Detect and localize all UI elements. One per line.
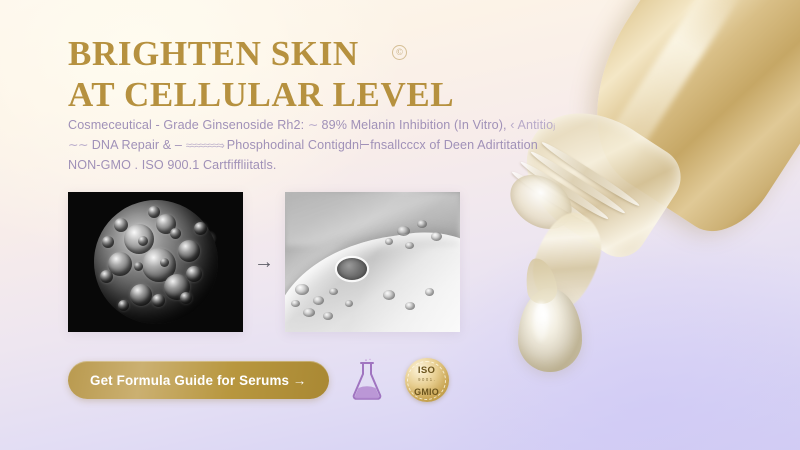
transition-arrow-icon: → [243,252,285,272]
before-after-panels: → [68,192,460,332]
product-bottle-image [500,0,800,450]
laboratory-flask-icon [347,358,387,402]
subcopy-line1-a: Cosmeceutical - Grade Ginsenoside Rh2: [68,118,304,132]
droplet-highlight [534,302,548,342]
seal-sub-text: GMIO [414,387,439,397]
seal-middle-text: 9 0 0 1 . [414,378,439,382]
headline-line-2: AT CELLULAR LEVEL [68,75,454,114]
subcopy-squiggle-1: ∼ [308,118,318,132]
subheading-copy: Cosmeceutical - Grade Ginsenoside Rh2: ∼… [68,116,558,176]
surface-pores [285,192,460,332]
iso-gmo-certification-seal: ISO 9 0 0 1 . GMIO [405,358,449,402]
subcopy-line1-b: 89% Melanin Inhibition (In Vitro), [321,118,506,132]
cell-cluster [94,200,218,324]
headline-line-1: BRIGHTEN SKIN [68,34,359,73]
seal-main-text: ISO [418,365,435,376]
subcopy-smear-glyphs: ≈≈≈≈≈≈≈≈› [186,140,224,152]
hero-banner: BRIGHTEN SKIN AT CELLULAR LEVEL © Cosmec… [0,0,800,450]
get-formula-guide-button[interactable]: Get Formula Guide for Serums → [68,361,329,399]
subcopy-line2-rest: Phosphodinal Contigdn⊢fnsallcccx of [227,138,440,152]
large-pore [337,258,367,280]
panel-after-sem-surface[interactable] [285,192,460,332]
subcopy-line2-mid: DNA Repair & – [92,138,182,152]
registered-trademark-icon: © [392,45,407,60]
subcopy-line2-lead: ‹ Antitioⱼ [510,118,555,132]
subcopy-squiggle-2: ∼∼ [68,138,88,152]
cta-row: Get Formula Guide for Serums → ISO 9 0 0… [68,358,449,402]
panel-before-microscopy[interactable] [68,192,243,332]
